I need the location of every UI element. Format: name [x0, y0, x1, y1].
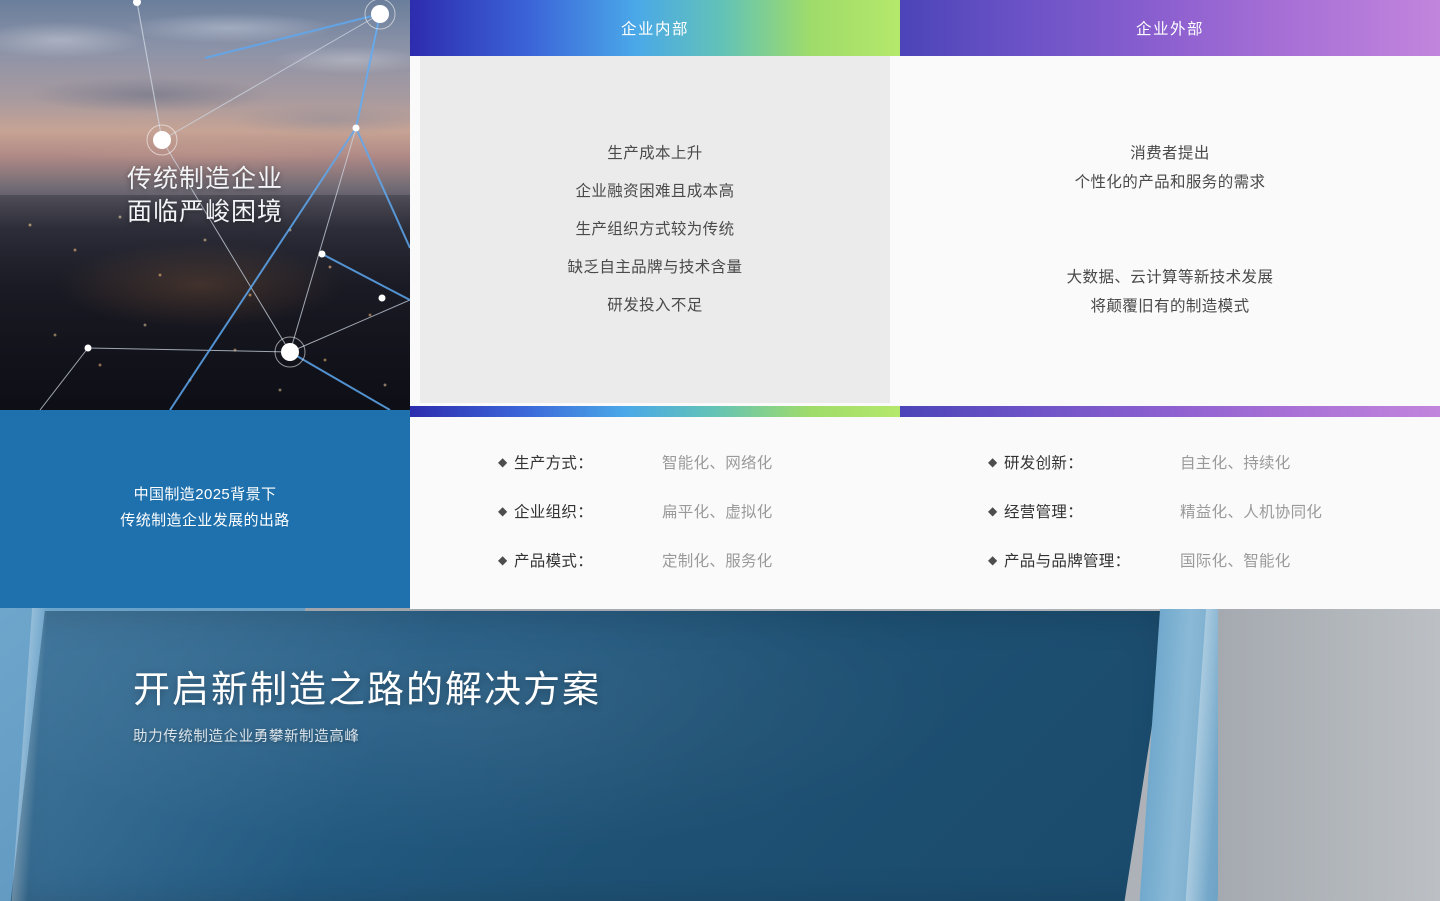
- header-external-label: 企业外部: [1136, 17, 1204, 39]
- solution-value: 精益化、人机协同化: [1180, 500, 1322, 522]
- banner-title: 开启新制造之路的解决方案: [133, 665, 601, 714]
- solution-label: 产品与品牌管理：: [1004, 549, 1180, 571]
- blue-panel-line2: 传统制造企业发展的出路: [120, 508, 289, 534]
- external-issue-line: 个性化的产品和服务的需求: [1075, 168, 1266, 197]
- separator-external: [900, 406, 1440, 417]
- separator-internal: [410, 406, 900, 417]
- solution-label: 产品模式：: [514, 549, 662, 571]
- solution-label: 经营管理：: [1004, 500, 1180, 522]
- solution-value: 自主化、持续化: [1180, 451, 1291, 473]
- solution-value: 智能化、网络化: [662, 451, 773, 473]
- solution-value: 扁平化、虚拟化: [662, 500, 773, 522]
- banner-top-left-blue-strip: [0, 605, 410, 608]
- hero-title-line1: 传统制造企业: [0, 163, 410, 196]
- slide-root: 传统制造企业 面临严峻困境 中国制造2025背景下 传统制造企业发展的出路 企业…: [0, 0, 1440, 901]
- list-item: ◆ 产品与品牌管理： 国际化、智能化: [988, 536, 1440, 585]
- banner-far-right-grey: [1218, 605, 1440, 901]
- diamond-bullet-icon: ◆: [988, 505, 1004, 517]
- blue-panel-line1: 中国制造2025背景下: [120, 482, 289, 508]
- internal-issue-item: 企业融资困难且成本高: [575, 173, 734, 211]
- internal-issue-item: 生产成本上升: [607, 135, 702, 173]
- hero-title: 传统制造企业 面临严峻困境: [0, 163, 410, 229]
- list-item: ◆ 生产方式： 智能化、网络化: [498, 438, 900, 487]
- top-area: 传统制造企业 面临严峻困境 中国制造2025背景下 传统制造企业发展的出路 企业…: [0, 0, 1440, 605]
- list-item: ◆ 产品模式： 定制化、服务化: [498, 536, 900, 585]
- internal-solutions-card: ◆ 生产方式： 智能化、网络化 ◆ 企业组织： 扁平化、虚拟化 ◆ 产品模式： …: [410, 417, 900, 605]
- hero-title-line2: 面临严峻困境: [0, 196, 410, 229]
- external-issues-card: 消费者提出 个性化的产品和服务的需求 大数据、云计算等新技术发展 将颠覆旧有的制…: [900, 56, 1440, 403]
- internal-issue-item: 生产组织方式较为传统: [575, 211, 734, 249]
- internal-issue-item: 缺乏自主品牌与技术含量: [568, 249, 743, 287]
- banner-panel-sheen: [10, 611, 1170, 901]
- external-solutions-card: ◆ 研发创新： 自主化、持续化 ◆ 经营管理： 精益化、人机协同化 ◆ 产品与品…: [900, 417, 1440, 605]
- solution-label: 生产方式：: [514, 451, 662, 473]
- list-item: ◆ 企业组织： 扁平化、虚拟化: [498, 487, 900, 536]
- external-issue-line: 将颠覆旧有的制造模式: [1067, 292, 1274, 321]
- solution-label: 企业组织：: [514, 500, 662, 522]
- header-internal-label: 企业内部: [621, 17, 689, 39]
- banner-text-group: 开启新制造之路的解决方案 助力传统制造企业勇攀新制造高峰: [133, 665, 601, 746]
- list-item: ◆ 经营管理： 精益化、人机协同化: [988, 487, 1440, 536]
- banner-top-white-strip: [410, 605, 1440, 609]
- solution-value: 国际化、智能化: [1180, 549, 1291, 571]
- external-issue-block-2: 大数据、云计算等新技术发展 将颠覆旧有的制造模式: [1067, 263, 1274, 321]
- diamond-bullet-icon: ◆: [498, 505, 514, 517]
- external-issue-block-1: 消费者提出 个性化的产品和服务的需求: [1075, 139, 1266, 197]
- solution-value: 定制化、服务化: [662, 549, 773, 571]
- internal-issue-item: 研发投入不足: [607, 287, 702, 325]
- external-issue-line: 消费者提出: [1075, 139, 1266, 168]
- header-internal: 企业内部: [410, 0, 900, 56]
- diamond-bullet-icon: ◆: [988, 456, 1004, 468]
- internal-issues-card: 生产成本上升 企业融资困难且成本高 生产组织方式较为传统 缺乏自主品牌与技术含量…: [420, 56, 890, 403]
- diamond-bullet-icon: ◆: [498, 554, 514, 566]
- list-item: ◆ 研发创新： 自主化、持续化: [988, 438, 1440, 487]
- diamond-bullet-icon: ◆: [988, 554, 1004, 566]
- header-external: 企业外部: [900, 0, 1440, 56]
- bottom-banner: 开启新制造之路的解决方案 助力传统制造企业勇攀新制造高峰: [0, 605, 1440, 901]
- banner-subtitle: 助力传统制造企业勇攀新制造高峰: [133, 725, 601, 746]
- hero-city-network-image: 传统制造企业 面临严峻困境: [0, 0, 410, 410]
- blue-panel-text: 中国制造2025背景下 传统制造企业发展的出路: [120, 482, 289, 534]
- blue-summary-panel: 中国制造2025背景下 传统制造企业发展的出路: [0, 410, 410, 605]
- solution-label: 研发创新：: [1004, 451, 1180, 473]
- external-issue-line: 大数据、云计算等新技术发展: [1067, 263, 1274, 292]
- diamond-bullet-icon: ◆: [498, 456, 514, 468]
